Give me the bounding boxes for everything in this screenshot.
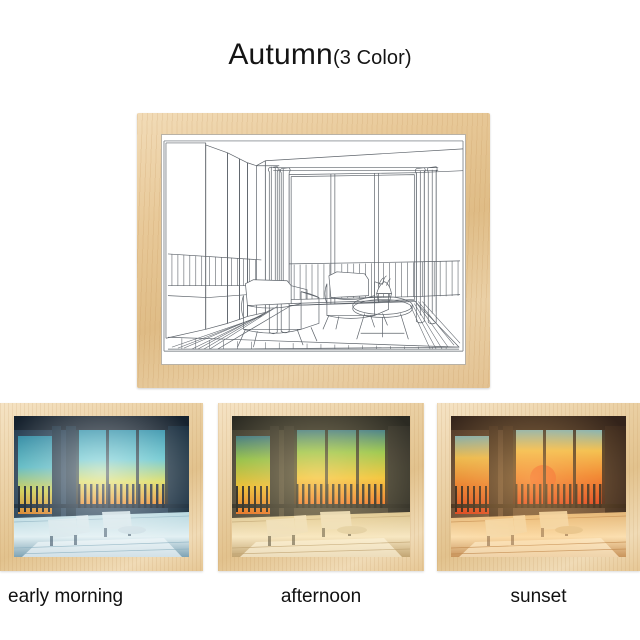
caption-sunset: sunset bbox=[437, 586, 640, 608]
hero-frame-mat bbox=[161, 134, 466, 365]
hero-picture-frame bbox=[137, 113, 490, 388]
thumbnail-afternoon[interactable] bbox=[218, 403, 424, 571]
caption-early-morning: early morning bbox=[8, 586, 123, 608]
thumbnail-sunset-art bbox=[451, 416, 626, 557]
hero-line-art bbox=[162, 135, 465, 364]
mood-thumbnail-row bbox=[0, 403, 640, 571]
thumbnail-early-morning[interactable] bbox=[0, 403, 203, 571]
thumbnail-early-morning-art bbox=[14, 416, 189, 557]
thumbnail-afternoon-art bbox=[232, 416, 410, 557]
thumbnail-sunset[interactable] bbox=[437, 403, 640, 571]
page-title-sub: (3 Color) bbox=[333, 47, 412, 69]
page-title: Autumn(3 Color) bbox=[0, 38, 640, 72]
caption-afternoon: afternoon bbox=[218, 586, 424, 608]
product-image-canvas: Autumn(3 Color) bbox=[0, 0, 640, 640]
page-title-main: Autumn bbox=[228, 38, 333, 71]
